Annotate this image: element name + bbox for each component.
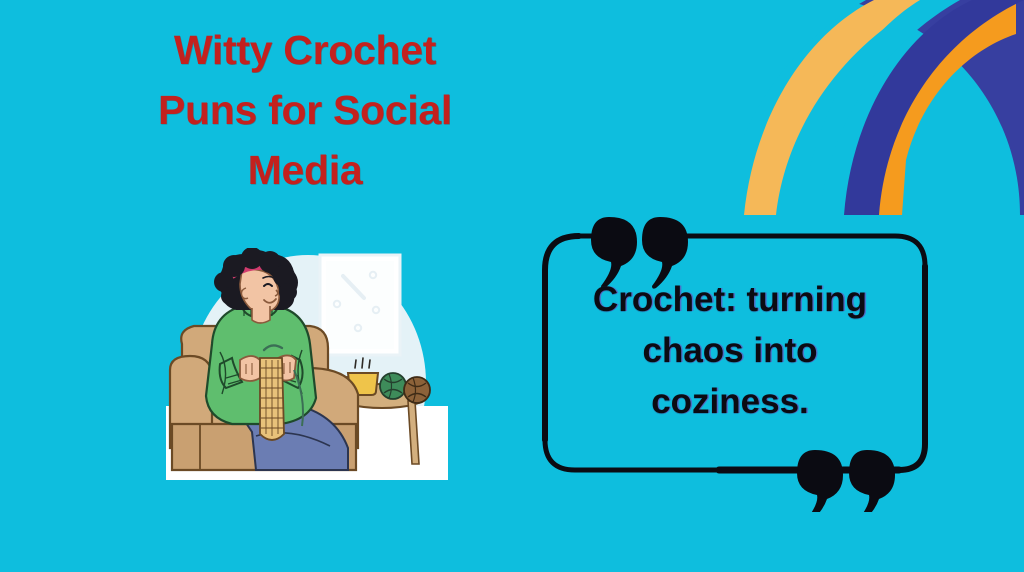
crochet-illustration — [160, 248, 452, 480]
quote-line-1: Crochet: turning — [545, 274, 915, 325]
yarn-ball-brown — [404, 377, 430, 403]
quote-bubble: Crochet: turning chaos into coziness. — [505, 212, 955, 512]
corner-swoosh-decoration — [724, 0, 1024, 215]
swoosh-navy-outer-shape — [844, 0, 1024, 215]
swoosh-cyan-cut-shape — [724, 0, 866, 215]
poster-canvas: Witty Crochet Puns for Social Media — [0, 0, 1024, 572]
quote-line-2: chaos into — [545, 325, 915, 376]
swoosh-navy-inner-shape — [844, 0, 1024, 215]
wall-picture-frame — [320, 255, 400, 355]
swoosh-orange-light-shape — [744, 0, 929, 215]
page-title: Witty Crochet Puns for Social Media — [88, 20, 522, 200]
swoosh-orange-bright-shape — [876, 0, 1016, 215]
page-title-line-2: Puns for Social — [88, 80, 522, 140]
close-quote-mark-icon — [797, 450, 895, 512]
swoosh-cyan-sliver-shape — [802, 0, 960, 215]
yarn-ball-green — [380, 373, 406, 399]
page-title-line-1: Witty Crochet — [88, 20, 522, 80]
page-title-line-3: Media — [88, 140, 522, 200]
quote-text: Crochet: turning chaos into coziness. — [545, 274, 915, 427]
quote-line-3: coziness. — [545, 376, 915, 427]
